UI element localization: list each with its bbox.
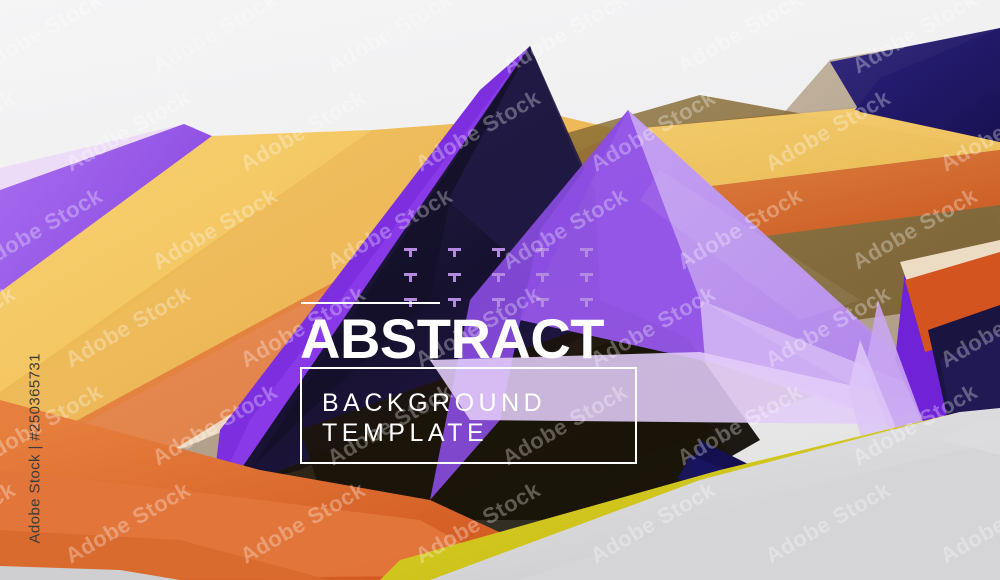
- t-dot-pattern: [404, 248, 594, 310]
- abstract-background-template: ABSTRACT BACKGROUND TEMPLATE Adobe Stock…: [0, 0, 1000, 580]
